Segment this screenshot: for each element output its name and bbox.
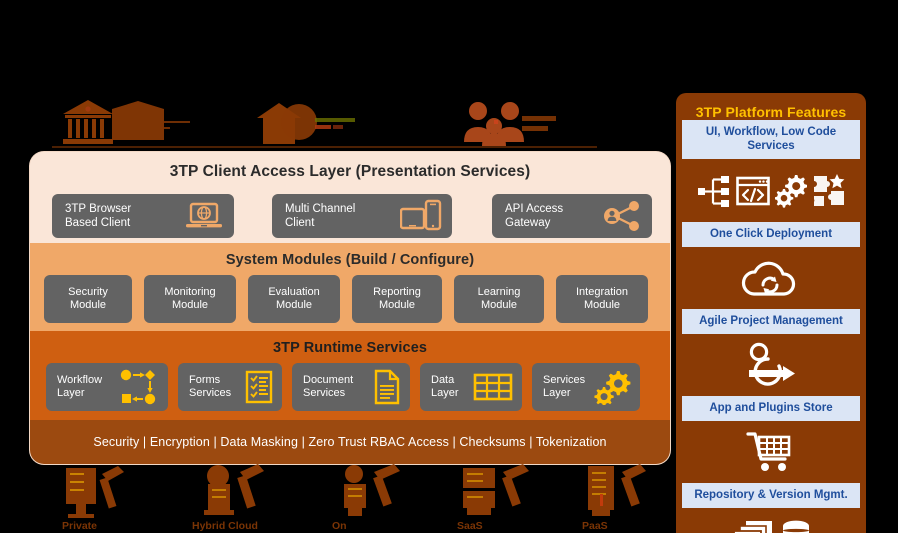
module-evaluation[interactable]: Evaluation Module xyxy=(248,275,340,323)
bottom-decorative-icon-row: Private Hybrid Cloud xyxy=(52,464,672,533)
card-label: Reporting Module xyxy=(373,286,421,313)
card-label: Learning Module xyxy=(478,286,521,313)
shopping-cart-icon xyxy=(746,430,796,474)
feature-icons-repository-version-mgmt xyxy=(676,508,866,533)
bottom-icon-label: SaaS xyxy=(457,520,483,532)
feature-icons-agile-project-management xyxy=(676,334,866,396)
architecture-main-panel: 3TP Client Access Layer (Presentation Se… xyxy=(30,152,670,464)
runtime-services-layer: 3TP Runtime Services Workflow Layer xyxy=(30,331,670,420)
feature-bar-app-and-plugins-store[interactable]: App and Plugins Store xyxy=(682,396,860,421)
feature-bar-one-click-deployment[interactable]: One Click Deployment xyxy=(682,222,860,247)
security-features-strip: Security | Encryption | Data Masking | Z… xyxy=(30,420,670,464)
card-workflow-layer[interactable]: Workflow Layer xyxy=(46,363,168,411)
cloud-server-icon: Hybrid Cloud xyxy=(192,464,302,524)
feature-bar-agile-project-management[interactable]: Agile Project Management xyxy=(682,309,860,334)
card-label: Services Layer xyxy=(543,374,585,401)
card-multi-channel-client[interactable]: Multi Channel Client xyxy=(272,194,452,238)
bottom-icon-label: On xyxy=(332,520,347,532)
module-learning[interactable]: Learning Module xyxy=(454,275,544,323)
card-forms-services[interactable]: Forms Services xyxy=(178,363,282,411)
feature-icons-ui-workflow-low-code xyxy=(676,159,866,222)
module-security[interactable]: Security Module xyxy=(44,275,132,323)
module-integration[interactable]: Integration Module xyxy=(556,275,648,323)
card-label: Data Layer xyxy=(431,374,459,401)
card-label: Evaluation Module xyxy=(268,286,319,313)
server-stack-icon: SaaS xyxy=(457,464,562,524)
client-access-layer: 3TP Client Access Layer (Presentation Se… xyxy=(30,152,670,243)
bottom-icon-label: Private xyxy=(62,520,97,532)
puzzle-star-icon xyxy=(812,174,846,208)
bottom-icon-label: PaaS xyxy=(582,520,608,532)
card-label: Forms Services xyxy=(189,374,231,401)
server-tower-icon: PaaS xyxy=(582,464,672,524)
module-monitoring[interactable]: Monitoring Module xyxy=(144,275,236,323)
system-modules-card-row: Security Module Monitoring Module Evalua… xyxy=(44,275,658,323)
feature-bar-repository-version-mgmt[interactable]: Repository & Version Mgmt. xyxy=(682,483,860,508)
top-decorative-icon-row xyxy=(55,96,595,148)
cloud-sync-icon xyxy=(740,256,802,300)
feature-icons-app-and-plugins-store xyxy=(676,421,866,483)
diagram-canvas: 3TP Client Access Layer (Presentation Se… xyxy=(0,0,898,533)
card-label: Integration Module xyxy=(576,286,628,313)
gears-icon xyxy=(593,369,631,405)
workflow-diagram-icon xyxy=(119,368,159,406)
code-window-icon xyxy=(736,175,770,207)
platform-features-panel: 3TP Platform Features UI, Workflow, Low … xyxy=(676,93,866,533)
bank-building-icon xyxy=(60,98,240,148)
agile-cycle-arrow-icon xyxy=(741,342,801,388)
api-share-nodes-icon xyxy=(602,200,642,232)
platform-features-title: 3TP Platform Features xyxy=(676,93,866,120)
card-3tp-browser-based-client[interactable]: 3TP Browser Based Client xyxy=(52,194,234,238)
system-modules-layer: System Modules (Build / Configure) Secur… xyxy=(30,243,670,331)
client-access-layer-title: 3TP Client Access Layer (Presentation Se… xyxy=(30,152,670,181)
image-stack-icon xyxy=(732,519,776,533)
database-icon xyxy=(781,519,811,533)
gears-icon xyxy=(775,174,807,208)
home-building-icon xyxy=(255,98,405,148)
tablet-phone-icon xyxy=(400,199,442,233)
card-api-access-gateway[interactable]: API Access Gateway xyxy=(492,194,652,238)
laptop-globe-icon xyxy=(184,201,224,231)
feature-bar-ui-workflow-low-code[interactable]: UI, Workflow, Low Code Services xyxy=(682,120,860,159)
card-label: Monitoring Module xyxy=(164,286,215,313)
card-data-layer[interactable]: Data Layer xyxy=(420,363,522,411)
form-checklist-icon xyxy=(245,370,273,404)
bottom-icon-label: Hybrid Cloud xyxy=(192,520,258,532)
module-reporting[interactable]: Reporting Module xyxy=(352,275,442,323)
sitemap-icon xyxy=(697,174,731,208)
client-access-card-row: 3TP Browser Based Client Multi Ch xyxy=(52,194,652,238)
security-features-label: Security | Encryption | Data Masking | Z… xyxy=(93,435,606,449)
card-label: Workflow Layer xyxy=(57,374,102,401)
card-label: Document Services xyxy=(303,374,353,401)
system-modules-layer-title: System Modules (Build / Configure) xyxy=(30,243,670,268)
runtime-services-card-row: Workflow Layer xyxy=(46,363,660,411)
feature-icons-one-click-deployment xyxy=(676,247,866,309)
card-label: Security Module xyxy=(68,286,108,313)
server-person-icon: On xyxy=(332,464,432,524)
data-grid-icon xyxy=(473,372,513,402)
card-services-layer[interactable]: Services Layer xyxy=(532,363,640,411)
card-label: Multi Channel Client xyxy=(285,202,355,230)
card-label: 3TP Browser Based Client xyxy=(65,202,131,230)
card-document-services[interactable]: Document Services xyxy=(292,363,410,411)
people-team-icon xyxy=(460,98,590,148)
server-rack-icon: Private xyxy=(62,464,152,524)
card-label: API Access Gateway xyxy=(505,202,563,230)
document-page-icon xyxy=(373,369,401,405)
runtime-services-layer-title: 3TP Runtime Services xyxy=(30,331,670,356)
